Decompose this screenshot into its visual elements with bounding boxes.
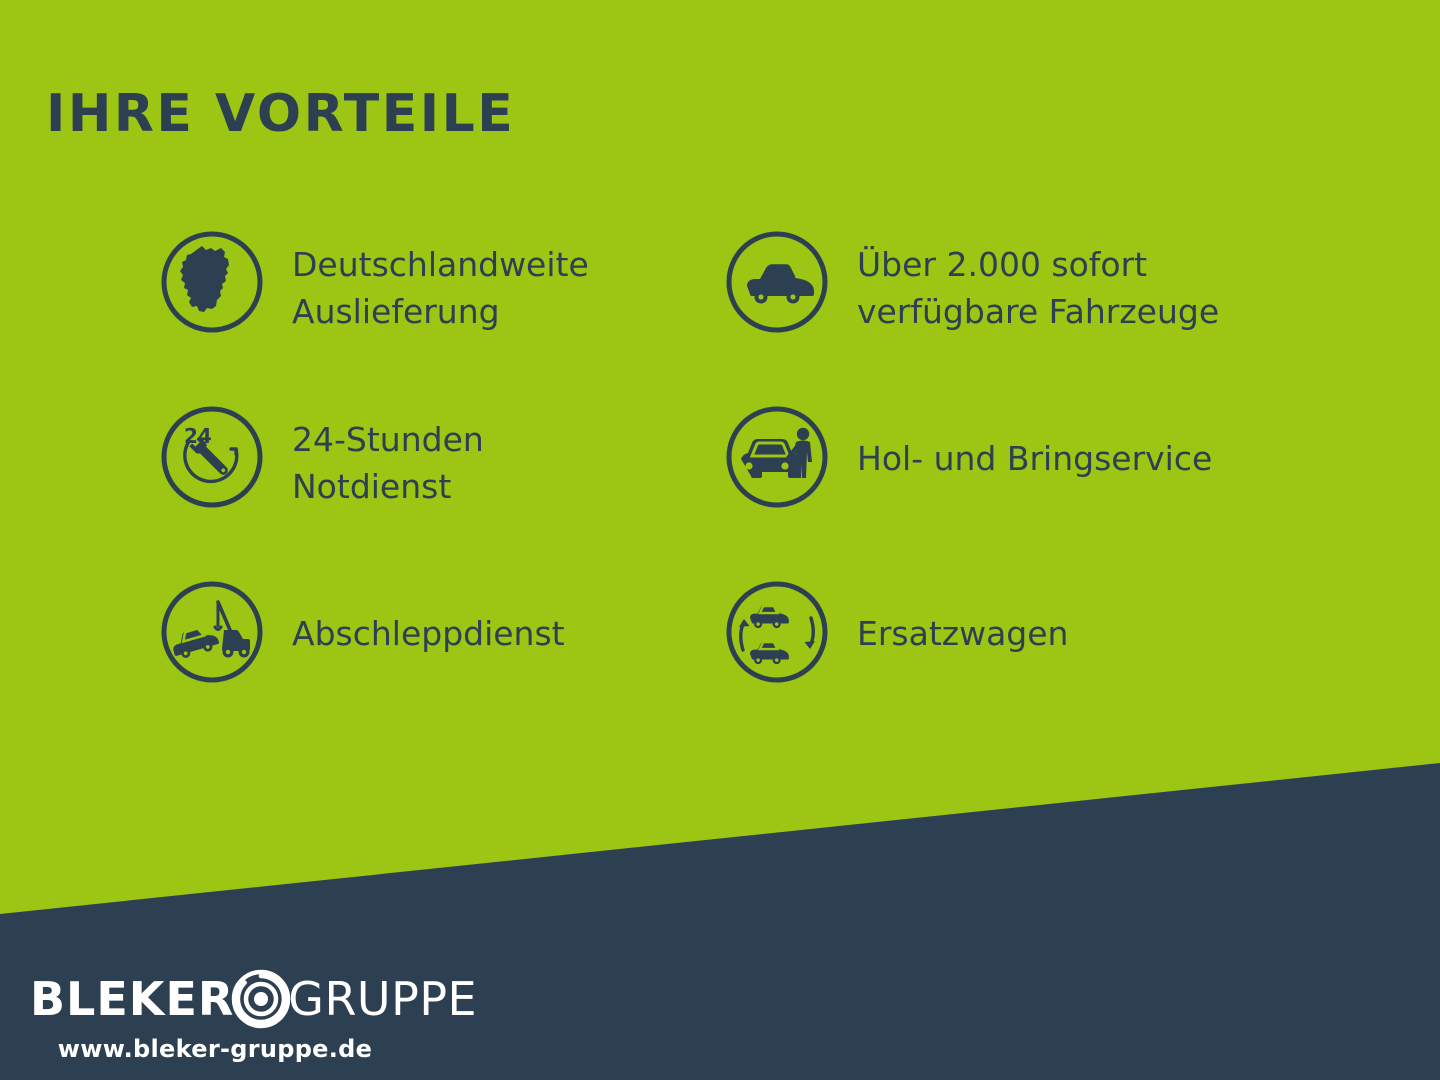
benefit-label: 24-Stunden Notdienst [292, 403, 484, 511]
footer-logo-block[interactable]: BLEKER GRUPPE www.bleker-gruppe.de [30, 972, 460, 1072]
car-with-person-icon [723, 403, 831, 511]
car-side-icon [723, 228, 831, 336]
clock-24-wrench-icon: 24 [158, 403, 266, 511]
benefit-label: Abschleppdienst [292, 578, 565, 658]
benefit-item-deutschlandweite-auslieferung[interactable]: Deutschlandweite Auslieferung [158, 228, 723, 403]
benefit-label-line-1: Hol- und Bringservice [857, 439, 1212, 478]
benefit-item-hol-und-bringservice[interactable]: Hol- und Bringservice [723, 403, 1288, 578]
logo-row: BLEKER GRUPPE [30, 972, 460, 1026]
benefit-label-line-1: Abschleppdienst [292, 614, 565, 653]
page-title: IHRE VORTEILE [46, 88, 515, 140]
benefit-label: Hol- und Bringservice [857, 403, 1212, 483]
logo-wordmark-gruppe: GRUPPE [288, 976, 477, 1022]
benefit-label-line-2: Auslieferung [292, 292, 500, 331]
benefit-item-abschleppdienst[interactable]: Abschleppdienst [158, 578, 723, 753]
benefit-item-ersatzwagen[interactable]: Ersatzwagen [723, 578, 1288, 753]
spiral-circle-emblem-icon [230, 968, 292, 1030]
tow-truck-icon [158, 578, 266, 686]
benefit-label: Deutschlandweite Auslieferung [292, 228, 589, 336]
benefit-label: Ersatzwagen [857, 578, 1068, 658]
benefit-label-line-1: Über 2.000 sofort [857, 245, 1147, 284]
benefit-label: Über 2.000 sofort verfügbare Fahrzeuge [857, 228, 1219, 336]
benefit-label-line-2: verfügbare Fahrzeuge [857, 292, 1219, 331]
benefit-label-line-2: Notdienst [292, 467, 451, 506]
logo-website-url[interactable]: www.bleker-gruppe.de [30, 1035, 400, 1063]
slide-canvas: IHRE VORTEILE Deutschlandweite Ausliefer… [0, 0, 1440, 1080]
benefit-label-line-1: Ersatzwagen [857, 614, 1068, 653]
benefit-item-24-stunden-notdienst[interactable]: 24 24-Stunden Notdienst [158, 403, 723, 578]
benefit-label-line-1: 24-Stunden [292, 420, 484, 459]
germany-map-icon [158, 228, 266, 336]
benefit-item-verfuegbare-fahrzeuge[interactable]: Über 2.000 sofort verfügbare Fahrzeuge [723, 228, 1288, 403]
benefit-label-line-1: Deutschlandweite [292, 245, 589, 284]
benefits-grid: Deutschlandweite Auslieferung Über 2.000… [158, 228, 1348, 753]
logo-wordmark-bleker: BLEKER [30, 976, 234, 1022]
two-cars-exchange-icon [723, 578, 831, 686]
